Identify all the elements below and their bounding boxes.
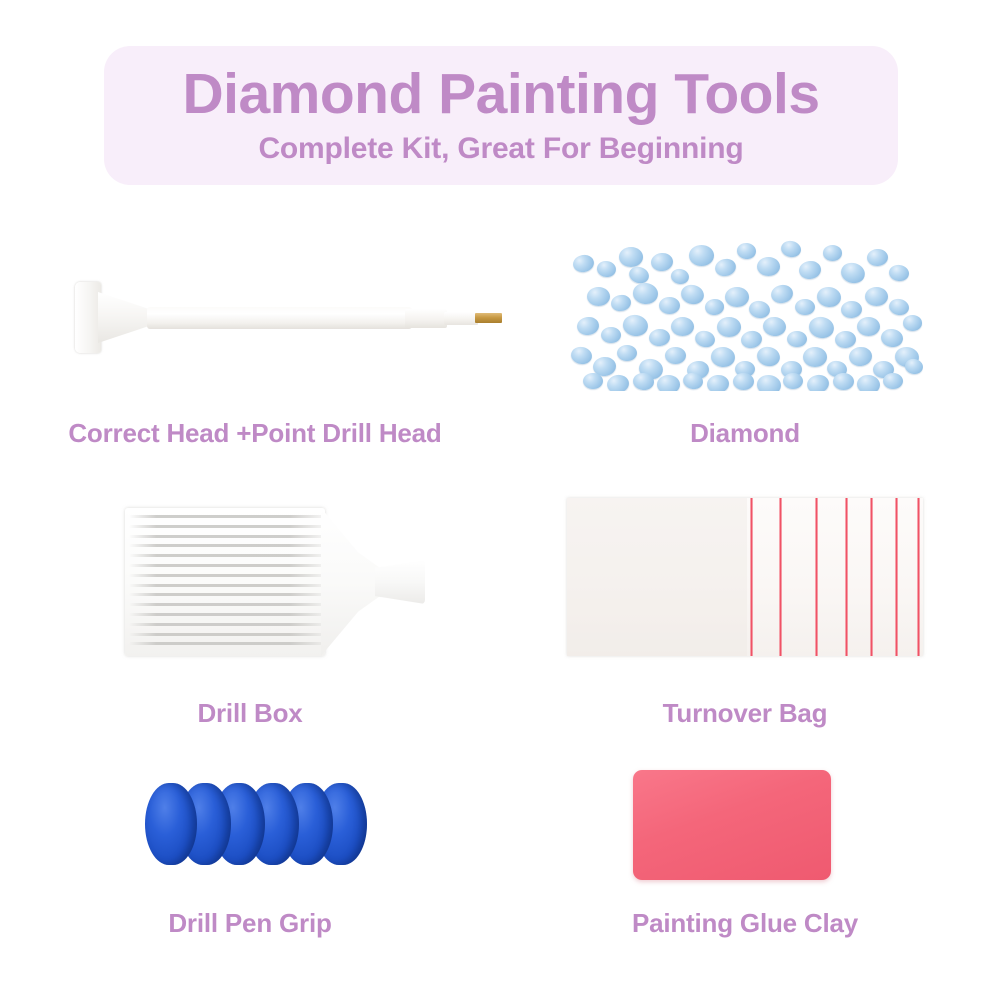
product-image-diamond-beads: [545, 235, 945, 395]
drill-pen-illustration: [65, 280, 495, 355]
tray-groove: [129, 642, 325, 645]
diamond-bead: [880, 328, 904, 349]
diamond-bead: [617, 345, 637, 361]
product-cell-drill-pen-grip: [30, 770, 470, 880]
bag-seal-stripe: [895, 498, 898, 656]
tray-handle: [375, 560, 425, 604]
pen-grip-illustration: [145, 783, 360, 865]
diamond-bead: [757, 257, 780, 276]
diamond-bead: [783, 373, 803, 389]
diamond-bead: [659, 297, 680, 314]
diamond-bead: [606, 373, 631, 391]
bag-panel: [685, 498, 747, 656]
diamond-bead: [665, 347, 686, 364]
diamond-bead: [648, 328, 671, 347]
tray-groove: [129, 603, 325, 606]
diamond-bead: [807, 315, 836, 340]
diamond-bead: [679, 282, 706, 306]
diamond-bead: [571, 253, 595, 274]
diamond-bead: [834, 330, 856, 349]
diamond-bead: [762, 316, 787, 337]
diamond-bead: [650, 252, 674, 272]
bag-seal-stripe: [917, 498, 920, 656]
tray-groove: [129, 564, 325, 567]
diamond-bead: [671, 317, 694, 336]
diamond-bead: [601, 327, 621, 343]
tray-groove: [129, 535, 325, 538]
bag-seal-stripe: [870, 498, 873, 656]
diamond-bead: [733, 373, 754, 390]
tray-groove: [129, 515, 325, 518]
diamond-bead: [769, 283, 794, 305]
page-subtitle: Complete Kit, Great For Beginning: [258, 132, 743, 166]
diamond-bead: [587, 287, 610, 306]
product-image-turnover-bag: [545, 490, 945, 670]
diamond-bead: [848, 346, 873, 367]
diamond-bead: [805, 373, 830, 391]
diamond-bead: [748, 299, 772, 320]
diamond-bead: [798, 260, 822, 281]
product-cell-painting-glue-clay: [545, 760, 945, 890]
diamond-bead: [904, 358, 923, 376]
diamond-bead: [740, 329, 764, 350]
bag-seal-stripe: [779, 498, 782, 656]
pen-grip-segment: [145, 783, 197, 865]
header-banner: Diamond Painting Tools Complete Kit, Gre…: [104, 46, 898, 185]
diamond-bead: [704, 298, 725, 315]
product-label-painting-glue-clay: Painting Glue Clay: [545, 908, 945, 939]
diamond-bead: [670, 268, 690, 286]
product-label-turnover-bag: Turnover Bag: [545, 698, 945, 729]
tray-groove: [129, 593, 325, 596]
tray-groove: [129, 544, 325, 547]
tray-groove: [129, 584, 325, 587]
product-label-diamond: Diamond: [545, 418, 945, 449]
turnover-bag-illustration: [567, 498, 923, 656]
diamond-bead: [693, 329, 716, 350]
drill-tray-illustration: [125, 500, 425, 665]
diamond-bead: [657, 375, 680, 391]
tray-groove: [129, 554, 325, 557]
product-label-drill-box: Drill Box: [30, 698, 470, 729]
diamond-bead: [710, 346, 736, 368]
diamond-bead: [823, 245, 842, 261]
diamond-bead: [619, 247, 643, 267]
pen-flat-correction-head: [75, 282, 101, 353]
pen-head-taper: [98, 292, 150, 343]
diamond-bead: [866, 248, 888, 267]
diamond-bead: [713, 257, 738, 279]
pen-gold-metal-tip: [475, 313, 502, 323]
product-image-drill-pen: [20, 235, 490, 395]
tray-groove: [129, 525, 325, 528]
tray-groove: [129, 574, 325, 577]
diamond-bead: [725, 287, 749, 307]
pen-nose: [444, 312, 478, 325]
diamond-bead: [755, 344, 782, 368]
tray-groove: [129, 613, 325, 616]
diamond-bead: [888, 264, 910, 283]
product-cell-correct-head-point-drill-head: [20, 235, 490, 395]
diamond-bead: [795, 299, 815, 315]
product-label-correct-head-point-drill-head: Correct Head +Point Drill Head: [20, 418, 490, 449]
diamond-bead: [596, 260, 617, 278]
diamond-bead: [576, 316, 600, 337]
diamond-bead: [706, 374, 730, 391]
diamond-bead: [816, 285, 843, 308]
diamond-bead: [888, 297, 911, 317]
diamond-bead: [883, 373, 903, 389]
diamond-bead: [689, 245, 714, 266]
diamond-bead: [632, 282, 659, 305]
pen-collar: [405, 309, 447, 328]
diamond-bead: [803, 347, 827, 367]
product-cell-diamond: [545, 235, 945, 395]
tray-body: [125, 508, 325, 656]
diamond-bead: [865, 287, 888, 306]
diamond-bead: [717, 317, 741, 337]
bag-seal-stripe: [815, 498, 818, 656]
diamond-bead: [756, 373, 783, 391]
tray-groove: [129, 623, 325, 626]
diamond-bead: [787, 331, 807, 347]
bag-panel: [567, 498, 685, 656]
bag-seal-stripe: [750, 498, 753, 656]
pen-barrel: [147, 307, 412, 329]
product-image-glue-clay: [545, 760, 945, 890]
tray-groove: [129, 633, 325, 636]
diamond-bead: [857, 317, 880, 336]
diamond-bead: [570, 345, 594, 366]
diamond-bead: [840, 300, 862, 319]
diamond-bead: [583, 373, 603, 389]
bag-seal-stripe: [845, 498, 848, 656]
product-cell-drill-box: [30, 490, 470, 670]
page-title: Diamond Painting Tools: [182, 65, 819, 125]
product-image-drill-box: [30, 490, 470, 670]
diamond-bead-pile: [567, 239, 923, 391]
diamond-bead: [833, 373, 854, 390]
tray-nose: [321, 508, 381, 656]
product-image-drill-pen-grip: [30, 770, 470, 880]
glue-clay-block: [633, 770, 831, 880]
product-label-drill-pen-grip: Drill Pen Grip: [30, 908, 470, 939]
product-cell-turnover-bag: [545, 490, 945, 670]
diamond-bead: [610, 293, 633, 313]
diamond-bead: [903, 315, 922, 331]
diamond-bead: [839, 260, 867, 286]
diamond-bead: [621, 313, 649, 338]
diamond-bead: [736, 242, 757, 259]
diamond-bead: [780, 239, 803, 259]
